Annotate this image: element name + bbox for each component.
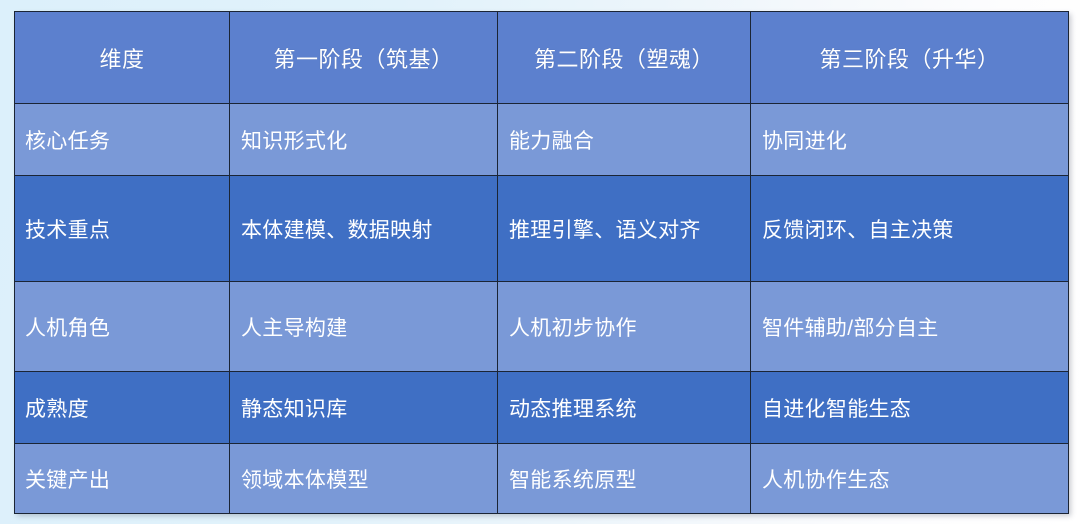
cell-key-output-stage-two: 智能系统原型 — [498, 444, 751, 514]
table-body: 核心任务 知识形式化 能力融合 协同进化 技术重点 本体建模、数据映射 推理引擎… — [15, 104, 1069, 514]
cell-tech-focus-stage-three: 反馈闭环、自主决策 — [751, 176, 1069, 282]
cell-human-machine-role-stage-two: 人机初步协作 — [498, 282, 751, 372]
cell-maturity-stage-three: 自进化智能生态 — [751, 372, 1069, 444]
row-label-key-output: 关键产出 — [15, 444, 230, 514]
cell-key-output-stage-one: 领域本体模型 — [230, 444, 498, 514]
cell-maturity-stage-one: 静态知识库 — [230, 372, 498, 444]
cell-human-machine-role-stage-three: 智件辅助/部分自主 — [751, 282, 1069, 372]
cell-key-output-stage-three: 人机协作生态 — [751, 444, 1069, 514]
table-row: 核心任务 知识形式化 能力融合 协同进化 — [15, 104, 1069, 176]
row-label-core-task: 核心任务 — [15, 104, 230, 176]
column-header-stage-two: 第二阶段（塑魂） — [498, 12, 751, 104]
column-header-stage-one: 第一阶段（筑基） — [230, 12, 498, 104]
cell-tech-focus-stage-two: 推理引擎、语义对齐 — [498, 176, 751, 282]
column-header-dimension: 维度 — [15, 12, 230, 104]
comparison-table-container: 维度 第一阶段（筑基） 第二阶段（塑魂） 第三阶段（升华） 核心任务 知识形式化… — [14, 11, 1068, 513]
cell-core-task-stage-three: 协同进化 — [751, 104, 1069, 176]
row-label-tech-focus: 技术重点 — [15, 176, 230, 282]
cell-core-task-stage-one: 知识形式化 — [230, 104, 498, 176]
table-row: 人机角色 人主导构建 人机初步协作 智件辅助/部分自主 — [15, 282, 1069, 372]
table-row: 技术重点 本体建模、数据映射 推理引擎、语义对齐 反馈闭环、自主决策 — [15, 176, 1069, 282]
cell-human-machine-role-stage-one: 人主导构建 — [230, 282, 498, 372]
cell-maturity-stage-two: 动态推理系统 — [498, 372, 751, 444]
table-header: 维度 第一阶段（筑基） 第二阶段（塑魂） 第三阶段（升华） — [15, 12, 1069, 104]
table-row: 成熟度 静态知识库 动态推理系统 自进化智能生态 — [15, 372, 1069, 444]
row-label-maturity: 成熟度 — [15, 372, 230, 444]
cell-tech-focus-stage-one: 本体建模、数据映射 — [230, 176, 498, 282]
table-row: 关键产出 领域本体模型 智能系统原型 人机协作生态 — [15, 444, 1069, 514]
column-header-stage-three: 第三阶段（升华） — [751, 12, 1069, 104]
cell-core-task-stage-two: 能力融合 — [498, 104, 751, 176]
header-row: 维度 第一阶段（筑基） 第二阶段（塑魂） 第三阶段（升华） — [15, 12, 1069, 104]
three-stage-comparison-table: 维度 第一阶段（筑基） 第二阶段（塑魂） 第三阶段（升华） 核心任务 知识形式化… — [14, 11, 1069, 514]
row-label-human-machine-role: 人机角色 — [15, 282, 230, 372]
